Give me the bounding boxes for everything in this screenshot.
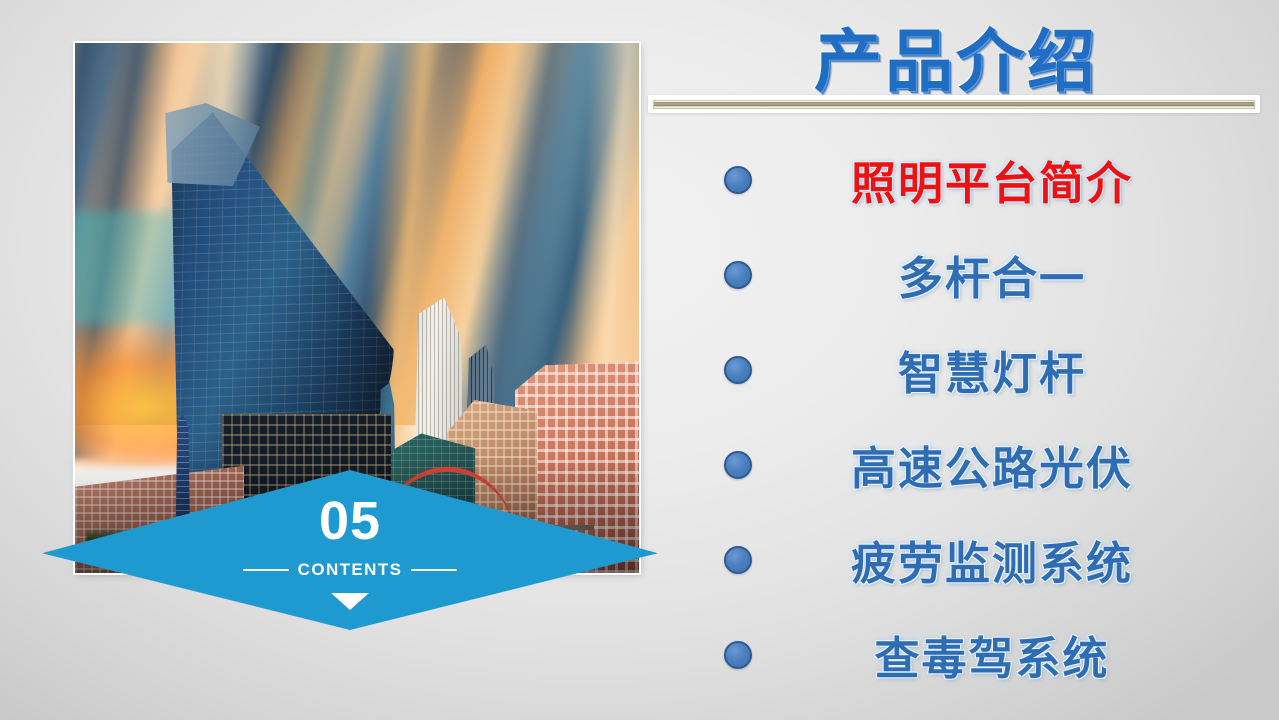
list-item-label: 智慧灯杆 <box>752 337 1260 402</box>
agenda-list: 照明平台简介 多杆合一 智慧灯杆 高速公路光伏 疲劳监测系统 查毒驾系统 <box>700 132 1260 702</box>
list-item[interactable]: 多杆合一 <box>700 227 1260 322</box>
list-item-label: 疲劳监测系统 <box>752 527 1260 592</box>
bullet-dot-icon <box>724 451 752 479</box>
list-item[interactable]: 查毒驾系统 <box>700 607 1260 702</box>
list-item-label: 多杆合一 <box>752 242 1260 307</box>
page-title: 产品介绍 <box>648 6 1264 105</box>
divider-inner-rule <box>653 100 1255 109</box>
list-item-label: 查毒驾系统 <box>752 622 1260 687</box>
list-item[interactable]: 照明平台简介 <box>700 132 1260 227</box>
list-item-label: 照明平台简介 <box>752 147 1260 212</box>
bullet-dot-icon <box>724 261 752 289</box>
list-item[interactable]: 疲劳监测系统 <box>700 512 1260 607</box>
bullet-dot-icon <box>724 641 752 669</box>
title-divider <box>648 95 1260 113</box>
bullet-dot-icon <box>724 166 752 194</box>
bullet-dot-icon <box>724 356 752 384</box>
presentation-slide: 05 CONTENTS 产品介绍 照明平台简介 多杆合一 智慧灯杆 高速公路光伏 <box>0 0 1279 720</box>
list-item[interactable]: 智慧灯杆 <box>700 322 1260 417</box>
list-item[interactable]: 高速公路光伏 <box>700 417 1260 512</box>
list-item-label: 高速公路光伏 <box>752 432 1260 497</box>
bullet-dot-icon <box>724 546 752 574</box>
